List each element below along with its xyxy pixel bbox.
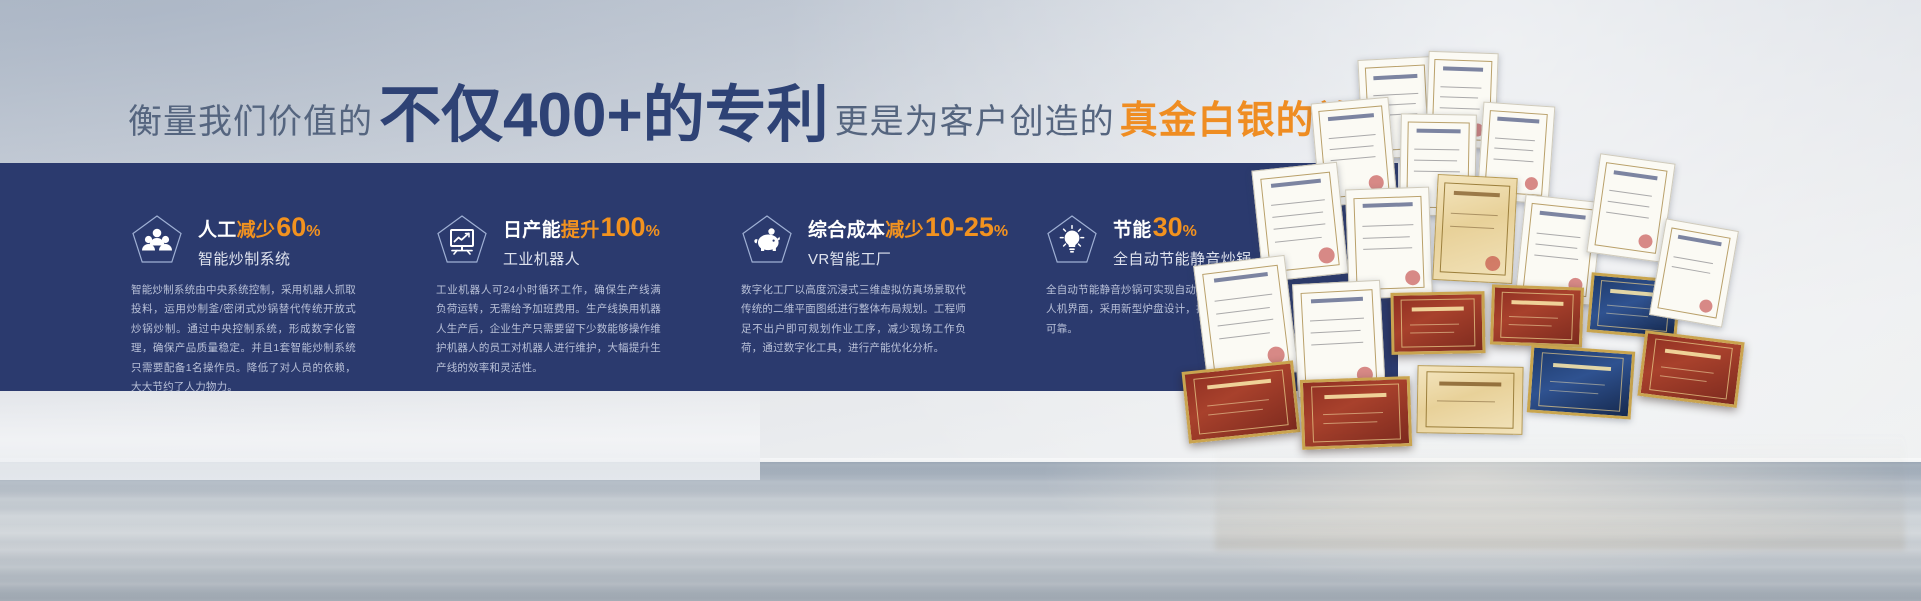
feature-title-prefix: 日产能 (503, 220, 561, 241)
feature-title-prefix: 综合成本 (808, 220, 885, 241)
feature-title: 日产能提升100% (503, 212, 660, 243)
lightbulb-icon (1045, 213, 1099, 267)
feature-header: 人工减少60% 智能炒制系统 (130, 211, 321, 269)
feature-body: 工业机器人可24小时循环工作，确保生产线满负荷运转，无需给予加班费用。生产线换用… (436, 281, 661, 378)
feature-subtitle: 智能炒制系统 (198, 248, 321, 269)
feature-body: 数字化工厂以高度沉浸式三维虚拟仿真场景取代传统的二维平面图纸进行整体布局规划。工… (741, 281, 966, 359)
feature-subtitle: 工业机器人 (503, 248, 660, 269)
feature-header: 综合成本减少10-25% VR智能工厂 (740, 211, 1008, 269)
feature-title: 人工减少60% (198, 212, 321, 243)
feature-body: 智能炒制系统由中央系统控制，采用机器人抓取投料，运用炒制釜/密闭式炒锅替代传统开… (131, 281, 356, 398)
feature-title-number: 60 (275, 212, 306, 242)
feature-title-prefix: 节能 (1113, 220, 1152, 241)
piggy-bank-icon (740, 213, 794, 267)
headline-middle: 更是为客户创造的 (835, 105, 1115, 139)
feature-subtitle: VR智能工厂 (808, 248, 1008, 269)
feature-title-number: 30 (1152, 212, 1183, 242)
feature-item: 综合成本减少10-25% VR智能工厂 数字化工厂以高度沉浸式三维虚拟仿真场景取… (740, 163, 1000, 391)
left-haze (0, 380, 760, 480)
feature-title-highlight: 减少 (237, 220, 276, 241)
feature-panel: 人工减少60% 智能炒制系统 智能炒制系统由中央系统控制，采用机器人抓取投料，运… (0, 163, 1398, 391)
feature-text: 日产能提升100% 工业机器人 (503, 211, 660, 269)
feature-title-unit: % (994, 223, 1009, 240)
headline-emphasis: 不仅400+的专利 (373, 85, 835, 147)
feature-header: 日产能提升100% 工业机器人 (435, 211, 660, 269)
feature-title-number: 10-25 (924, 212, 994, 242)
feature-title: 综合成本减少10-25% (808, 212, 1008, 243)
feature-item: 日产能提升100% 工业机器人 工业机器人可24小时循环工作，确保生产线满负荷运… (435, 163, 695, 391)
feature-item: 人工减少60% 智能炒制系统 智能炒制系统由中央系统控制，采用机器人抓取投料，运… (130, 163, 390, 391)
chart-board-icon (435, 213, 489, 267)
feature-title-number: 100 (600, 212, 646, 242)
feature-title-prefix: 人工 (198, 220, 237, 241)
feature-title-unit: % (646, 223, 661, 240)
feature-text: 综合成本减少10-25% VR智能工厂 (808, 211, 1008, 269)
certificate-reflection (1215, 430, 1905, 550)
feature-title-unit: % (306, 223, 321, 240)
feature-list: 人工减少60% 智能炒制系统 智能炒制系统由中央系统控制，采用机器人抓取投料，运… (130, 163, 1345, 391)
headline-lead: 衡量我们价值的 (128, 105, 373, 139)
certificate-wall (1195, 48, 1921, 478)
feature-title-highlight: 减少 (885, 220, 924, 241)
people-group-icon (130, 213, 184, 267)
banner-stage: 衡量我们价值的 不仅400+的专利 更是为客户创造的 真金白银的效益 (0, 0, 1921, 601)
feature-text: 人工减少60% 智能炒制系统 (198, 211, 321, 269)
feature-title-highlight: 提升 (561, 220, 600, 241)
